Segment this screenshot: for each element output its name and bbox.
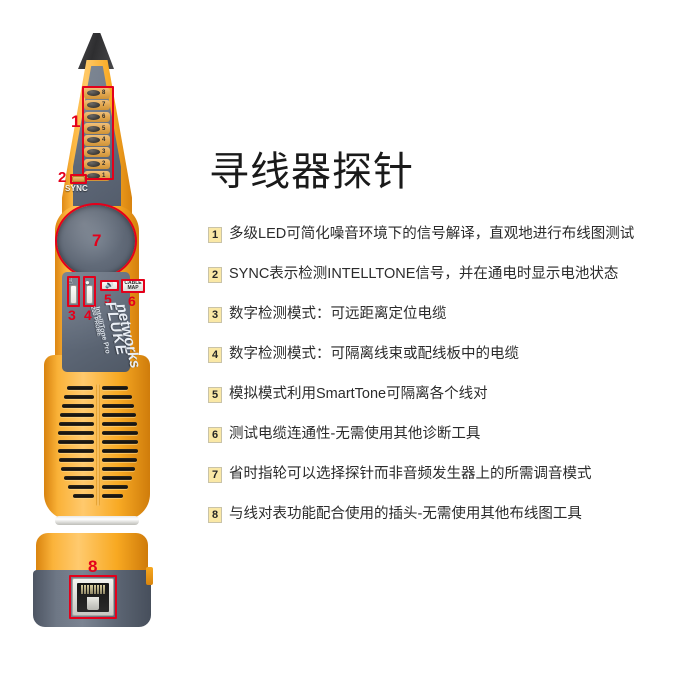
grille-slot <box>102 440 138 444</box>
callout-box-1 <box>82 86 114 180</box>
feature-item: 7 省时指轮可以选择探针而非音频发生器上的所需调音模式 <box>208 466 690 506</box>
feature-text: 测试电缆连通性-无需使用其他诊断工具 <box>229 426 480 443</box>
feature-text: 省时指轮可以选择探针而非音频发生器上的所需调音模式 <box>229 466 592 483</box>
grille-slot <box>62 404 94 408</box>
feature-badge: 1 <box>208 227 222 243</box>
grille-slot <box>64 395 94 399</box>
product-feature-page: 8 7 6 5 4 3 2 <box>0 0 690 687</box>
feature-text: 模拟模式利用SmartTone可隔离各个线对 <box>229 386 488 403</box>
feature-badge: 7 <box>208 467 222 483</box>
grille-slot <box>102 386 128 390</box>
grille-divider <box>96 384 100 506</box>
grille-slot <box>102 431 138 435</box>
grille-slot <box>102 404 134 408</box>
probe-base-strip <box>55 516 139 525</box>
grille-slot <box>102 485 128 489</box>
feature-text: 数字检测模式：可远距离定位电缆 <box>229 306 447 323</box>
feature-badge: 6 <box>208 427 222 443</box>
grille-slot <box>102 458 137 462</box>
feature-text: SYNC表示检测INTELLTONE信号，并在通电时显示电池状态 <box>229 266 618 283</box>
callout-number-8: 8 <box>88 558 97 575</box>
feature-item: 4 数字检测模式：可隔离线束或配线板中的电缆 <box>208 346 690 386</box>
feature-item: 8 与线对表功能配合使用的插头-无需使用其他布线图工具 <box>208 506 690 546</box>
callout-number-2: 2 <box>58 170 66 185</box>
callout-number-3: 3 <box>68 308 76 322</box>
adapter-module-tab <box>146 567 153 585</box>
grille-slot <box>61 467 94 471</box>
grille-slot <box>102 422 137 426</box>
grille-slot <box>102 449 138 453</box>
feature-badge: 3 <box>208 307 222 323</box>
callout-box-4 <box>83 276 96 307</box>
feature-item: 3 数字检测模式：可远距离定位电缆 <box>208 306 690 346</box>
feature-item: 5 模拟模式利用SmartTone可隔离各个线对 <box>208 386 690 426</box>
callout-box-5 <box>100 280 119 291</box>
feature-item: 6 测试电缆连通性-无需使用其他诊断工具 <box>208 426 690 466</box>
feature-badge: 5 <box>208 387 222 403</box>
grille-slot <box>102 476 132 480</box>
feature-text: 多级LED可简化噪音环境下的信号解译，直观地进行布线图测试 <box>229 226 634 243</box>
grille-slot <box>59 458 94 462</box>
grille-slot <box>60 413 94 417</box>
feature-badge: 2 <box>208 267 222 283</box>
feature-item: 2 SYNC表示检测INTELLTONE信号，并在通电时显示电池状态 <box>208 266 690 306</box>
grille-slot <box>102 413 136 417</box>
grille-slot <box>59 422 94 426</box>
sync-label: SYNC <box>65 184 88 193</box>
callout-number-7: 7 <box>92 232 101 249</box>
feature-list: 1 多级LED可简化噪音环境下的信号解译，直观地进行布线图测试 2 SYNC表示… <box>208 226 690 546</box>
product-image: 8 7 6 5 4 3 2 <box>0 0 200 687</box>
grille-slot <box>102 494 123 498</box>
callout-box-8 <box>69 575 117 619</box>
grille-slot <box>73 494 94 498</box>
grille-slot <box>64 476 94 480</box>
grille-slot <box>68 485 94 489</box>
grille-slot <box>67 386 93 390</box>
grille-slot <box>58 440 94 444</box>
callout-box-2 <box>70 174 87 184</box>
feature-badge: 8 <box>208 507 222 523</box>
feature-text: 与线对表功能配合使用的插头-无需使用其他布线图工具 <box>229 506 582 523</box>
callout-box-6 <box>121 279 145 293</box>
callout-number-1: 1 <box>71 113 80 130</box>
feature-badge: 4 <box>208 347 222 363</box>
grille-slot <box>58 431 94 435</box>
page-title: 寻线器探针 <box>209 139 414 197</box>
speaker-grille <box>53 380 141 510</box>
grille-slot <box>102 395 132 399</box>
feature-text: 数字检测模式：可隔离线束或配线板中的电缆 <box>229 346 519 363</box>
content-column: 寻线器探针 1 多级LED可简化噪音环境下的信号解译，直观地进行布线图测试 2 … <box>200 0 690 687</box>
callout-box-3 <box>67 276 80 307</box>
grille-slot <box>58 449 94 453</box>
grille-slot <box>102 467 135 471</box>
feature-item: 1 多级LED可简化噪音环境下的信号解译，直观地进行布线图测试 <box>208 226 690 266</box>
